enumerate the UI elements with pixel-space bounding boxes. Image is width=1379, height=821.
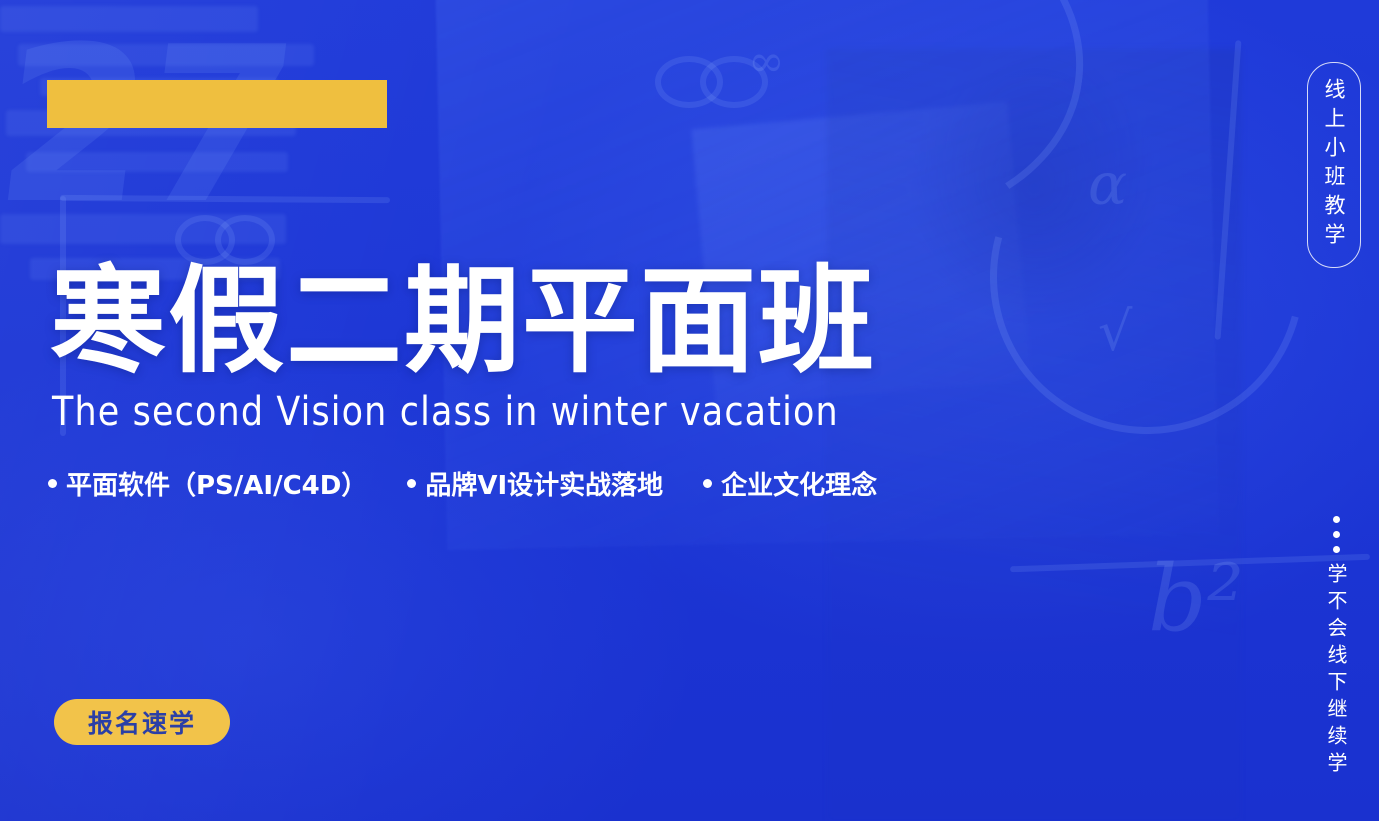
slogan-label: 学不会线下继续学 [1322, 563, 1351, 779]
feature-label: 品牌VI设计实战落地 [425, 465, 663, 502]
guarantee-slogan: 学不会线下继续学 [1322, 516, 1351, 779]
bullet-dot-icon [48, 479, 57, 488]
promo-banner: α b² ∞ √ 27 寒假二期平面班 The second Vision cl… [0, 0, 1379, 821]
feature-label: 企业文化理念 [721, 465, 877, 502]
content-layer: 寒假二期平面班 The second Vision class in winte… [0, 0, 1379, 821]
page-title: 寒假二期平面班 [50, 264, 876, 380]
badge-label: 线上小班教学 [1319, 78, 1349, 252]
feature-item: 品牌VI设计实战落地 [407, 465, 663, 502]
feature-item: 平面软件（PS/AI/C4D） [48, 465, 367, 502]
enroll-button[interactable]: 报名速学 [54, 699, 230, 745]
feature-label: 平面软件（PS/AI/C4D） [66, 465, 367, 502]
accent-bar [47, 80, 387, 128]
feature-item: 企业文化理念 [703, 465, 877, 502]
bullet-dot-icon [703, 479, 712, 488]
bullet-dot-icon [407, 479, 416, 488]
slogan-dots-icon [1333, 516, 1340, 553]
feature-list: 平面软件（PS/AI/C4D） 品牌VI设计实战落地 企业文化理念 [48, 465, 877, 502]
page-subtitle: The second Vision class in winter vacati… [52, 392, 839, 432]
online-class-badge: 线上小班教学 [1307, 62, 1361, 268]
